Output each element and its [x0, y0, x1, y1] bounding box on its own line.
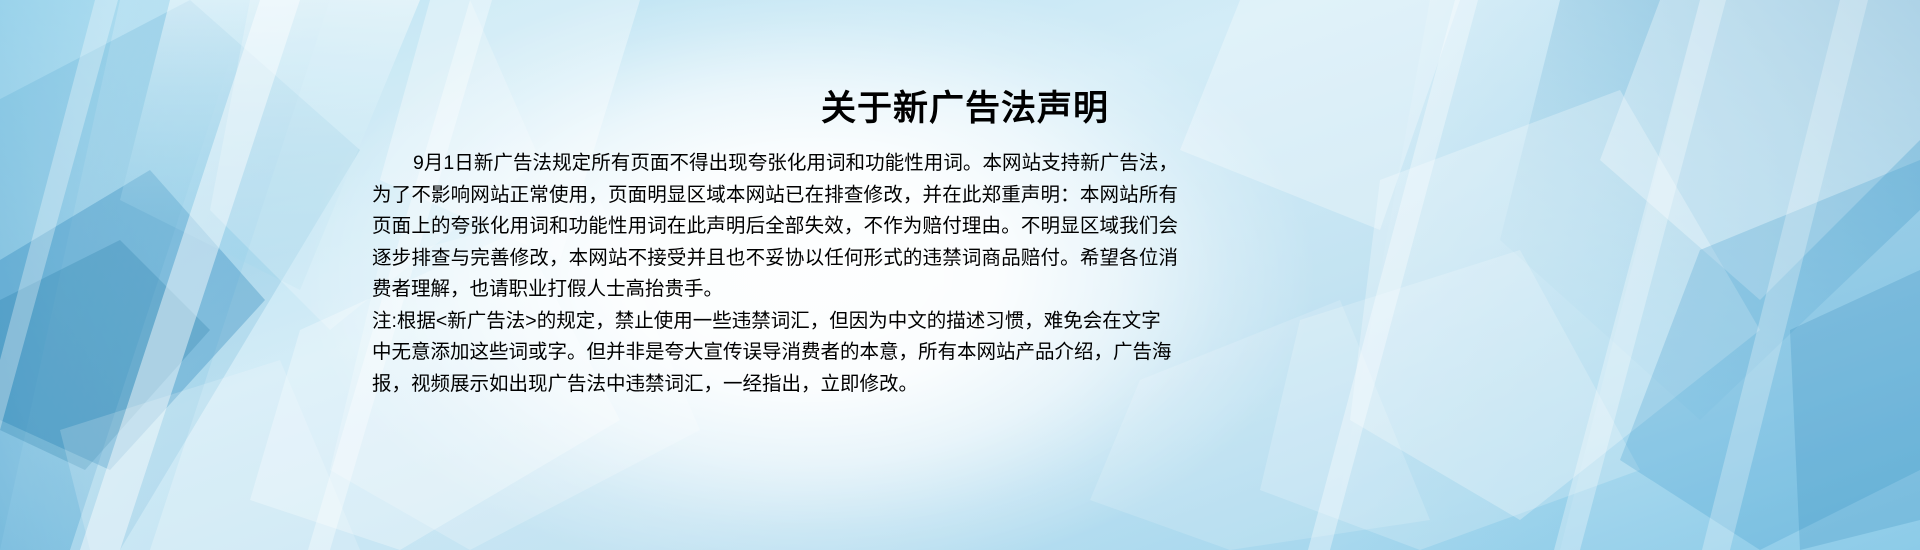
page-title-text: 关于新广告法声明: [821, 88, 1109, 130]
advertising-law-statement-banner: 关于新广告法声明 9月1日新广告法规定所有页面不得出现夸张化用词和功能性用词。本…: [0, 0, 1920, 550]
page-title: 关于新广告法声明: [0, 88, 1920, 130]
statement-paragraph-1: 9月1日新广告法规定所有页面不得出现夸张化用词和功能性用词。本网站支持新广告法，…: [372, 148, 1178, 306]
statement-paragraph-2-note: 注:根据<新广告法>的规定，禁止使用一些违禁词汇，但因为中文的描述习惯，难免会在…: [372, 306, 1178, 401]
statement-body: 9月1日新广告法规定所有页面不得出现夸张化用词和功能性用词。本网站支持新广告法，…: [372, 148, 1178, 400]
